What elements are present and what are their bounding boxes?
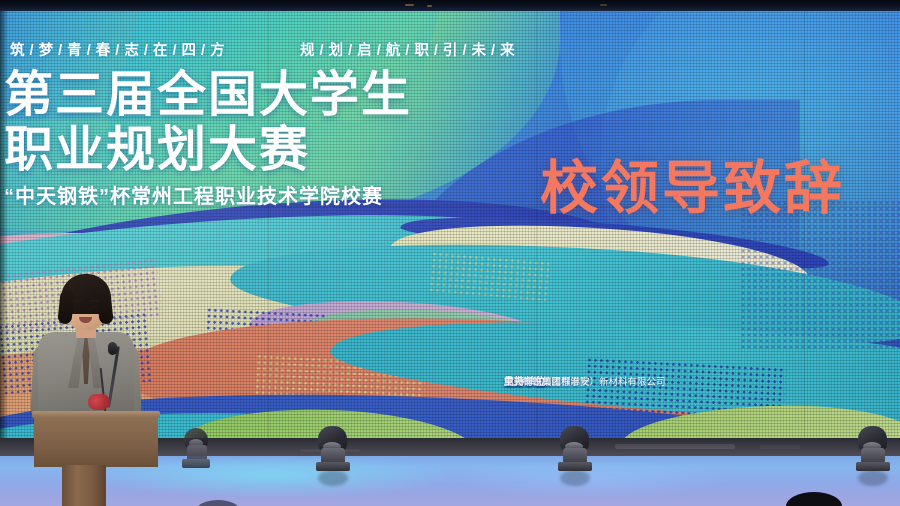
microphone-head <box>108 342 117 355</box>
podium-column <box>62 465 106 506</box>
flower-arrangement <box>88 394 110 410</box>
stage-left-shadow <box>0 10 8 442</box>
backdrop-tagline-left: 筑 / 梦 / 青 / 春 / 志 / 在 / 四 / 方 <box>10 39 225 60</box>
podium-body: 筑梦青春志在四方 规划启航职引未来 第三届全国大学生职业规划大赛 “中天钢铁”杯… <box>34 417 158 467</box>
podium-and-speaker: 筑梦青春志在四方 规划启航职引未来 第三届全国大学生职业规划大赛 “中天钢铁”杯… <box>16 272 176 506</box>
moving-head-light <box>182 432 210 468</box>
stage-photo: 筑 / 梦 / 青 / 春 / 志 / 在 / 四 / 方 规 / 划 / 启 … <box>0 0 900 506</box>
backdrop-title-line1: 第三届全国大学生 <box>4 71 412 120</box>
backdrop-subtitle: “中天钢铁”杯常州工程职业技术学院校赛 <box>4 180 383 209</box>
halftone-dots-upper-right <box>740 200 900 350</box>
moving-head-light <box>316 425 350 471</box>
moving-head-light <box>558 425 592 471</box>
backdrop-segment-title: 校领导致辞 <box>540 160 845 218</box>
credits-item: 中天钢铁集团（淮安）新材料有限公司 <box>504 377 666 389</box>
moving-head-light <box>856 423 890 471</box>
speaker-eye-left <box>73 305 80 308</box>
speaker-brow-right <box>89 300 100 302</box>
speaker-hair-side-right <box>96 289 113 324</box>
backdrop-tagline-right: 规 / 划 / 启 / 航 / 职 / 引 / 未 / 来 <box>300 39 515 60</box>
floor-reflection-lights <box>560 470 590 486</box>
speaker-eye-right <box>91 305 98 308</box>
stage-top-bezel <box>0 0 900 11</box>
floor-reflection-lights <box>318 470 348 486</box>
backdrop-title-line2: 职业规划大赛 <box>4 126 310 175</box>
floor-reflection-lights <box>858 470 888 486</box>
speaker-brow-left <box>71 300 82 302</box>
